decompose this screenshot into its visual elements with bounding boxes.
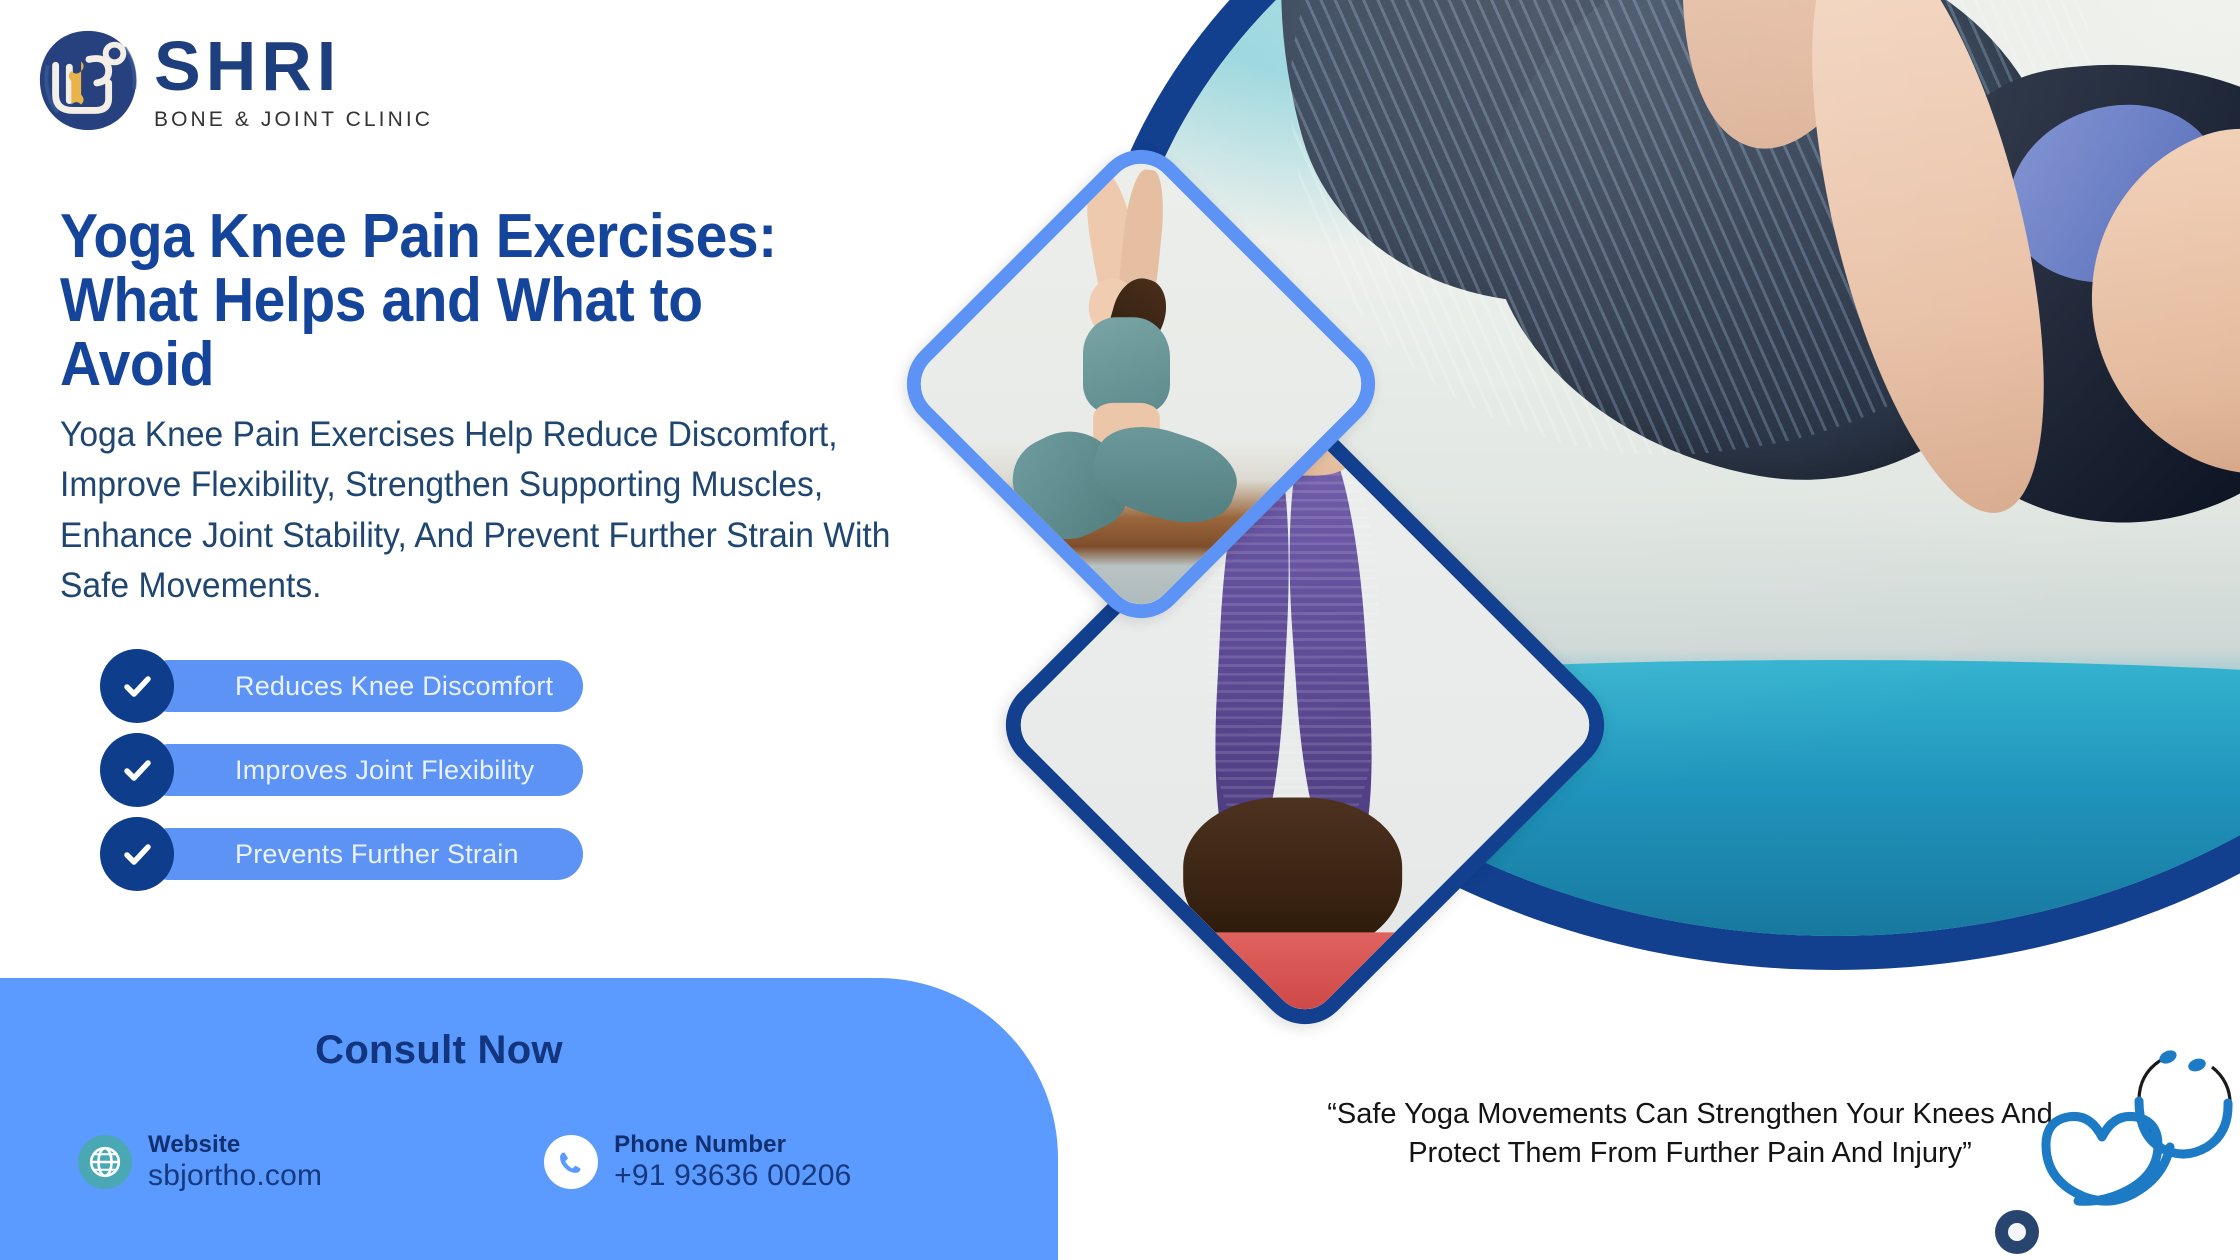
consult-panel: Consult Now Website sbjortho.com [0, 978, 1058, 1260]
shri-brush-circle-logo-icon [34, 26, 142, 134]
contact-label: Website [148, 1132, 322, 1159]
check-icon [100, 649, 174, 723]
contact-website[interactable]: Website sbjortho.com [78, 1132, 322, 1192]
list-item[interactable]: Reduces Knee Discomfort [143, 660, 583, 712]
brand-tagline: BONE & JOINT CLINIC [154, 109, 433, 130]
page-title: Yoga Knee Pain Exercises: What Helps and… [60, 205, 870, 397]
poster-canvas: SHRI BONE & JOINT CLINIC Yoga Knee Pain … [0, 0, 2240, 1260]
list-item-label: Reduces Knee Discomfort [235, 671, 553, 702]
check-icon [100, 817, 174, 891]
contact-phone[interactable]: Phone Number +91 93636 00206 [544, 1132, 851, 1192]
benefit-list: Reduces Knee Discomfort Improves Joint F… [143, 660, 583, 880]
brand-name: SHRI [154, 31, 433, 101]
list-item-label: Improves Joint Flexibility [235, 755, 534, 786]
globe-icon [78, 1135, 132, 1189]
contact-value: sbjortho.com [148, 1159, 322, 1193]
quote-text: “Safe Yoga Movements Can Strengthen Your… [1300, 1095, 2080, 1173]
contact-value: +91 93636 00206 [614, 1159, 851, 1193]
stethoscope-heart-icon [1965, 1035, 2235, 1260]
list-item[interactable]: Improves Joint Flexibility [143, 744, 583, 796]
brand-logo[interactable]: SHRI BONE & JOINT CLINIC [34, 26, 433, 134]
consult-now-heading: Consult Now [0, 1028, 1058, 1073]
contact-label: Phone Number [614, 1132, 851, 1159]
contact-list: Website sbjortho.com Phone Number +91 93… [78, 1132, 852, 1192]
phone-icon [544, 1135, 598, 1189]
list-item-label: Prevents Further Strain [235, 839, 519, 870]
hero-description: Yoga Knee Pain Exercises Help Reduce Dis… [60, 410, 924, 612]
check-icon [100, 733, 174, 807]
list-item[interactable]: Prevents Further Strain [143, 828, 583, 880]
